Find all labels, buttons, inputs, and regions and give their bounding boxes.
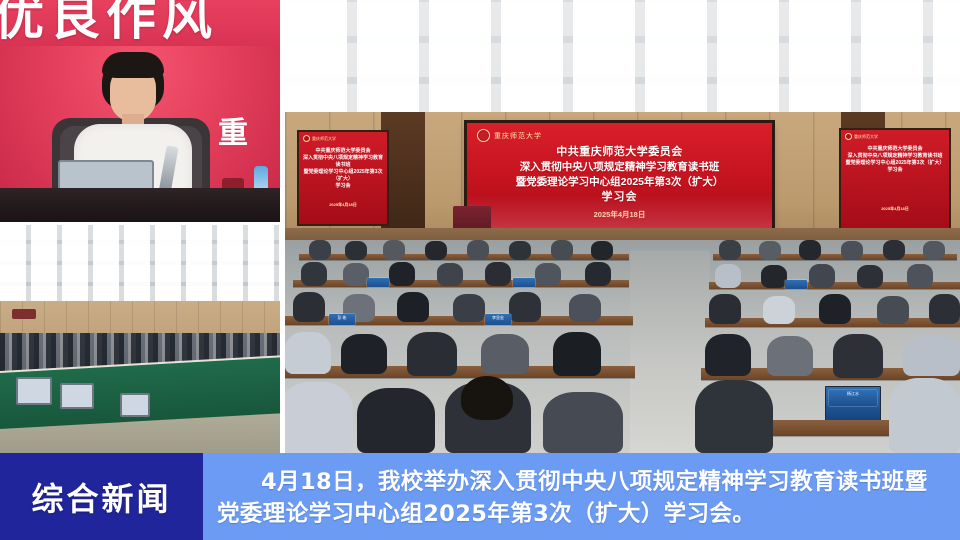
attendee [695, 380, 773, 453]
screen-line-4: 学习会 [467, 190, 772, 205]
attendee [425, 241, 447, 260]
side-screen-logo: 重庆师范大学 [303, 135, 336, 142]
attendee [453, 294, 485, 322]
side-screen-line4: 学习会 [301, 183, 385, 190]
attendee [485, 262, 511, 286]
attendee [709, 294, 741, 324]
attendee [467, 240, 489, 260]
name-placard: 彭 彬 [329, 314, 355, 325]
attendee [841, 241, 863, 260]
hall-door-left [381, 112, 425, 232]
photo-main-conference-hall: 重庆师范大学 中共重庆师范大学委员会 深入贯彻中央八项规定精神学习教育读书班 暨… [285, 0, 960, 453]
caption-text: 4月18日，我校举办深入贯彻中央八项规定精神学习教育读书班暨党委理论学习中心组2… [217, 466, 944, 530]
table-monitor [60, 383, 94, 409]
university-emblem-icon [303, 135, 310, 142]
news-collage-page: 优良作风 重 [0, 0, 960, 540]
caption-body: 4月18日，我校举办深入贯彻中央八项规定精神学习教育读书班暨党委理论学习中心组2… [203, 453, 960, 540]
attendee [719, 240, 741, 260]
side-screen-left: 重庆师范大学 中共重庆师范大学委员会 深入贯彻中央八项规定精神学习教育读书班 暨… [299, 132, 387, 224]
hall-ceiling [0, 225, 280, 303]
category-badge-label: 综合新闻 [31, 474, 171, 520]
main-hall-ceiling [285, 0, 960, 118]
screen-logo: 重庆师范大学 [477, 129, 542, 142]
placard-label: 李显宏 [485, 314, 511, 322]
table-monitor [16, 377, 52, 405]
attendee-head [461, 376, 513, 420]
attendee [383, 240, 405, 260]
ceiling-coffer-grid [285, 0, 960, 118]
attendee [551, 240, 573, 260]
table-monitor [120, 393, 150, 417]
attendee [833, 334, 883, 378]
backdrop-side-text: 重 [218, 116, 278, 152]
attendee [343, 263, 369, 286]
attendee [877, 296, 909, 324]
screen-line-2: 深入贯彻中央八项规定精神学习教育读书班 [467, 160, 772, 175]
screen-line-3: 暨党委理论学习中心组2025年第3次（扩大） [467, 175, 772, 190]
attendee [293, 292, 325, 322]
photo-collage: 优良作风 重 [0, 0, 960, 453]
side-screen-line4: 学习会 [843, 167, 947, 174]
side-screen-date: 2025年4月18日 [841, 206, 949, 212]
exit-sign [12, 309, 36, 319]
attendee [809, 264, 835, 288]
attendee [543, 392, 623, 453]
side-screen-logo: 重庆师范大学 [845, 133, 878, 140]
attendee [903, 336, 960, 376]
caption-bar: 综合新闻 4月18日，我校举办深入贯彻中央八项规定精神学习教育读书班暨党委理论学… [0, 453, 960, 540]
side-screen-university: 重庆师范大学 [312, 136, 336, 142]
name-placard: 杨江水 [829, 390, 877, 406]
attendee [759, 241, 781, 260]
side-screen-line1: 中共重庆师范大学委员会 [843, 146, 947, 153]
side-screen-line2: 深入贯彻中央八项规定精神学习教育读书班 [301, 155, 385, 169]
main-led-screen: 重庆师范大学 中共重庆师范大学委员会 深入贯彻中央八项规定精神学习教育读书班 暨… [467, 123, 772, 229]
backdrop-headline-text: 优良作风 [0, 0, 280, 46]
screen-banner-text: 中共重庆师范大学委员会 深入贯彻中央八项规定精神学习教育读书班 暨党委理论学习中… [467, 145, 772, 205]
university-emblem-icon [477, 129, 490, 142]
screen-date: 2025年4月18日 [467, 209, 772, 220]
attendee [285, 332, 331, 374]
side-screen-line1: 中共重庆师范大学委员会 [301, 148, 385, 155]
side-screen-text: 中共重庆师范大学委员会 深入贯彻中央八项规定精神学习教育读书班 暨党委理论学习中… [301, 148, 385, 190]
placard-label: 彭 彬 [329, 314, 355, 322]
attendee [591, 241, 613, 260]
attendee [767, 336, 813, 376]
name-placard [785, 280, 807, 289]
speaker-fringe [102, 52, 164, 78]
name-placard [513, 278, 535, 287]
attendee [585, 262, 611, 286]
attendee [569, 294, 601, 322]
attendee [889, 378, 960, 453]
ceiling-light-grid [0, 225, 280, 303]
attendee [705, 334, 751, 376]
attendee [301, 262, 327, 286]
attendee [883, 240, 905, 260]
attendee [357, 388, 435, 453]
attendee [799, 240, 821, 260]
photo-speaker-at-podium: 优良作风 重 [0, 0, 280, 222]
attendee [389, 262, 415, 286]
attendee [907, 264, 933, 288]
attendee [309, 240, 331, 260]
side-screen-text: 中共重庆师范大学委员会 深入贯彻中央八项规定精神学习教育读书班 暨党委理论学习中… [843, 146, 947, 174]
side-screen-line2: 深入贯彻中央八项规定精神学习教育读书班 [843, 153, 947, 160]
attendee [341, 334, 387, 374]
category-badge[interactable]: 综合新闻 [0, 453, 203, 540]
attendee [437, 263, 463, 286]
attendee [763, 296, 795, 324]
attendee [857, 265, 883, 288]
attendee [761, 265, 787, 288]
podium-desk [0, 188, 280, 222]
side-screen-line3: 暨党委理论学习中心组2025年第3次（扩大） [301, 169, 385, 183]
attendee [285, 382, 353, 453]
attendee [345, 241, 367, 260]
attendee [553, 332, 601, 376]
name-placard: 李显宏 [485, 314, 511, 325]
side-screen-right: 重庆师范大学 中共重庆师范大学委员会 深入贯彻中央八项规定精神学习教育读书班 暨… [841, 130, 949, 228]
attendee [407, 332, 457, 376]
attendee [819, 294, 851, 324]
attendee [509, 292, 541, 322]
photo-conference-hall-wide [0, 225, 280, 453]
attendee [929, 294, 960, 324]
side-screen-university: 重庆师范大学 [854, 134, 878, 140]
placard-label: 杨江水 [829, 390, 877, 398]
attendee [509, 241, 531, 260]
university-emblem-icon [845, 133, 852, 140]
attendee [535, 263, 561, 286]
screen-university-name: 重庆师范大学 [494, 131, 542, 141]
name-placard [367, 278, 389, 287]
attendee [923, 241, 945, 260]
attendee [481, 334, 529, 374]
side-screen-date: 2025年4月18日 [299, 202, 387, 208]
side-screen-line3: 暨党委理论学习中心组2025年第3次（扩大） [843, 160, 947, 167]
attendee [715, 264, 741, 288]
attendee [397, 292, 429, 322]
screen-line-1: 中共重庆师范大学委员会 [467, 145, 772, 160]
audience-desk [713, 254, 957, 260]
